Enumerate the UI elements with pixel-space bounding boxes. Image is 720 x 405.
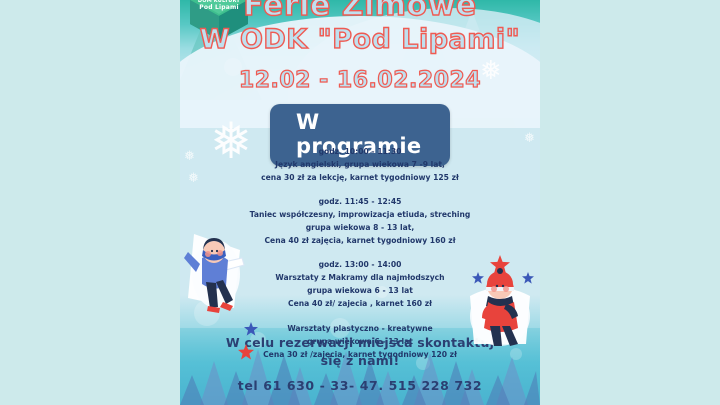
star-decoration-blue <box>244 322 258 336</box>
poster-title-line-2: W ODK "Pod Lipami" <box>180 24 540 55</box>
program-detail-line: Język angielski, grupa wiekowa 7 -9 lat, <box>198 158 522 171</box>
contact-phone-numbers: tel 61 630 - 33- 47. 515 228 732 <box>190 378 530 393</box>
program-block: godz. 10:00 - 11:30Język angielski, grup… <box>198 145 522 184</box>
poster-title-line-1: Ferie Zimowe <box>180 0 540 23</box>
snowflake-icon: ❅ <box>184 150 195 163</box>
snowflake-icon: ❅ <box>524 132 535 145</box>
program-detail-line: Taniec współczesny, improwizacja etiuda,… <box>198 208 522 221</box>
child-red-coat-illustration <box>460 250 540 346</box>
program-detail-line: cena 30 zł za lekcję, karnet tygodniowy … <box>198 171 522 184</box>
star-decoration-red <box>238 344 254 360</box>
winter-holidays-poster: ❅ ❅ ❅ ❅ ❅ DOM KULTURY Pod Lipami Ferie Z… <box>180 0 540 405</box>
program-time: godz. 10:00 - 11:30 <box>198 145 522 158</box>
poster-dates: 12.02 - 16.02.2024 <box>180 68 540 93</box>
child-snow-angel-illustration <box>180 228 256 320</box>
program-time: godz. 11:45 - 12:45 <box>198 195 522 208</box>
